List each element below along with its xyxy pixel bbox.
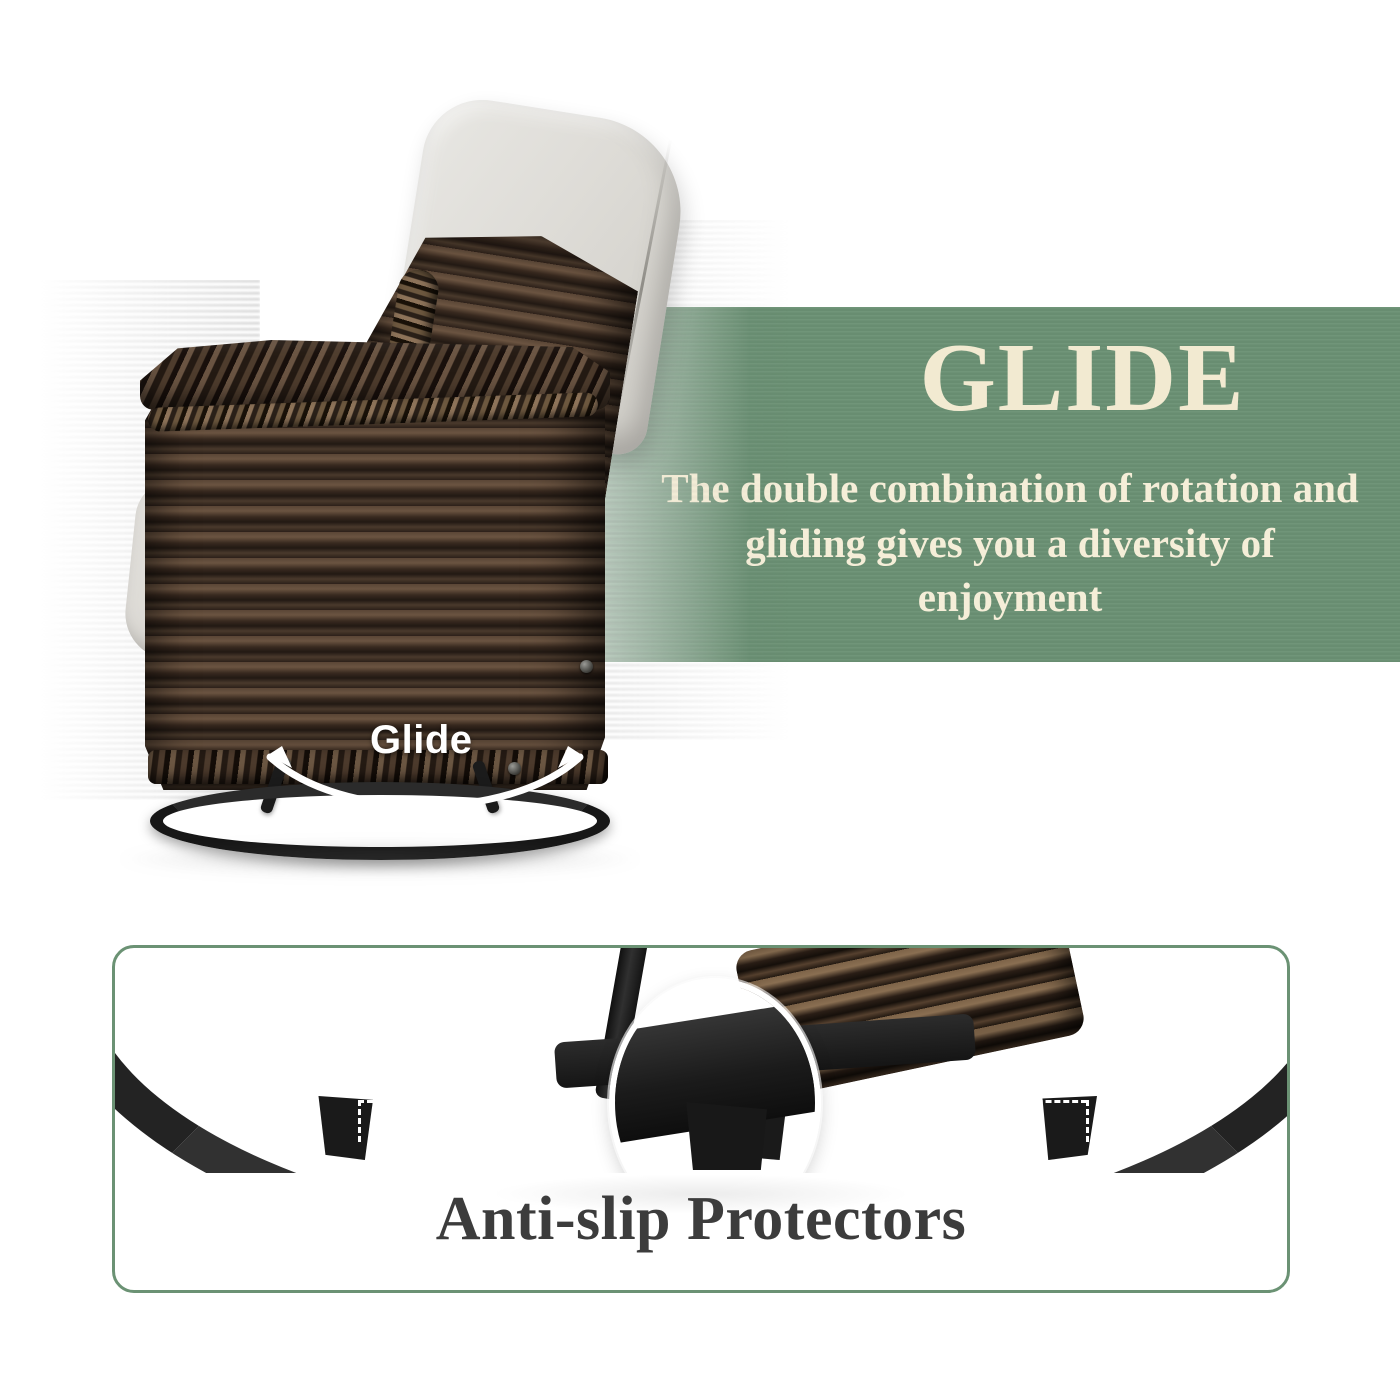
panel-caption: Anti-slip Protectors <box>115 1184 1287 1255</box>
banner-description: The double combination of rotation and g… <box>660 461 1360 625</box>
magnifier-backdrop-bottom <box>609 1170 821 1173</box>
product-chair: Glide <box>60 100 760 860</box>
base-closeup-photo <box>115 948 1287 1173</box>
top-product-scene: GLIDE The double combination of rotation… <box>0 0 1400 930</box>
double-curved-arrow-icon <box>230 712 620 822</box>
anti-slip-panel: Anti-slip Protectors <box>112 945 1290 1293</box>
chair-ground-shadow <box>120 842 640 876</box>
dashed-tick-right <box>1086 1100 1089 1142</box>
bolt-icon <box>580 660 593 673</box>
dashed-tick-left <box>358 1100 361 1142</box>
magnified-protector-foot <box>681 1102 767 1173</box>
magnifier-content <box>609 978 821 1173</box>
magnifier-ellipse <box>609 978 821 1173</box>
banner-title: GLIDE <box>920 329 1246 427</box>
glide-annotation: Glide <box>230 712 620 822</box>
dashed-guide-right <box>815 1100 1087 1103</box>
